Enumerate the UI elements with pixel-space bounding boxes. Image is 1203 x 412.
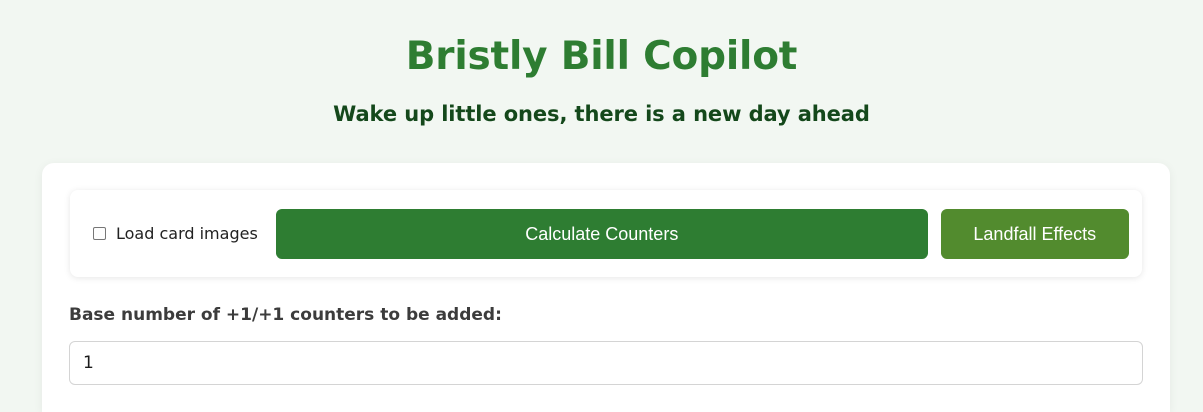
page-subtitle: Wake up little ones, there is a new day … [0, 81, 1203, 127]
base-counters-field-block: Base number of +1/+1 counters to be adde… [69, 304, 1143, 385]
calculate-counters-button[interactable]: Calculate Counters [276, 209, 928, 259]
load-card-images-label: Load card images [116, 224, 258, 244]
app-root: Bristly Bill Copilot Wake up little ones… [0, 0, 1203, 412]
load-card-images-checkbox[interactable] [93, 227, 106, 240]
main-card: Load card images Calculate Counters Land… [42, 163, 1170, 412]
landfall-effects-button[interactable]: Landfall Effects [941, 209, 1129, 259]
base-counters-label: Base number of +1/+1 counters to be adde… [69, 304, 1143, 326]
load-card-images-checkbox-group[interactable]: Load card images [93, 224, 258, 244]
toolbar-panel: Load card images Calculate Counters Land… [70, 190, 1142, 277]
base-counters-input[interactable] [69, 341, 1143, 385]
page-title: Bristly Bill Copilot [0, 0, 1203, 81]
